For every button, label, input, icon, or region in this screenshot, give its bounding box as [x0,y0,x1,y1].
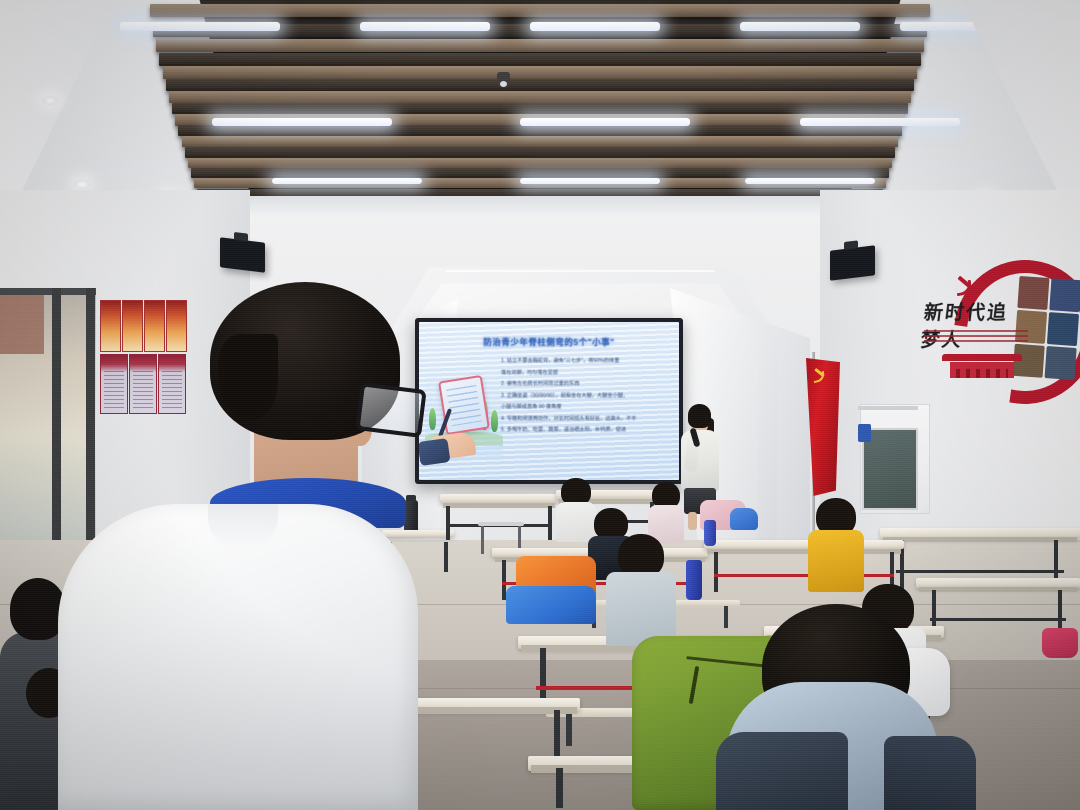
exterior-brick-wall [0,288,44,354]
slide-bullet: 2. 避免左右肩长时间背过重的东西 [501,379,673,391]
ceiling-slat [159,53,920,65]
child-blue-hooded-jacket [716,604,1016,810]
ceiling-slat [169,91,911,103]
child-pink-top [648,482,684,542]
collage-photo [1047,312,1079,346]
hammer-sickle-icon [812,368,828,384]
light-tube [272,178,422,184]
blue-bottle [704,520,716,546]
blue-bottle [686,560,702,600]
presentation-screen[interactable]: 防治青少年脊柱侧弯的5个"小事" 1. 站立不要含胸驼背，避免"三七步"，将50… [415,318,683,484]
ceiling-slat [166,79,914,91]
slide-bullets: 1. 站立不要含胸驼背，避免"三七步"，将50%的体重 落在双脚，均匀落在足部 … [501,356,673,437]
party-emblem-icon [954,276,976,298]
party-wall-art: 新时代追梦人 [912,258,1080,390]
child-gray-shirt [606,534,676,644]
blue-item [730,508,758,530]
tree-icon [491,410,498,432]
slide-bullet: 4. 写路和阅读两动作，对长时间低头有好处，远离头，不半 [501,414,673,426]
zipper-pull [689,666,700,704]
vest-left [716,732,848,810]
ceiling-camera-icon [497,72,510,87]
wall-art-title: 新时代追梦人 [922,298,1026,328]
slide-bullet: 落在双脚，均匀落在足部 [501,368,673,380]
slide-bullet: 3. 正确坐姿（90/90/90），屁股坐在大腿，大腿坐小腿， [501,391,673,403]
light-tube [520,178,660,184]
child-yellow-shirt [808,498,864,590]
foreground-man-back-view [58,282,418,810]
presenter-hair [688,404,711,428]
ceiling-slat [182,136,899,147]
wall-art-subtitle-lines [924,330,1028,345]
wall-speaker-left-icon [220,237,265,273]
ceiling-slat [172,103,908,115]
downlight-icon [74,180,90,189]
vest-right [884,736,976,810]
classroom-scene: 防治青少年脊柱侧弯的5个"小事" 1. 站立不要含胸驼背，避免"三七步"，将50… [0,0,1080,810]
light-tube [520,118,690,126]
light-tube [530,22,660,31]
slide-illustration [425,364,503,460]
light-tube [120,22,280,31]
ceiling-slat [191,168,889,178]
ceiling-slat [185,147,896,158]
board-cloth [858,424,871,442]
pink-bag [1042,628,1078,658]
light-tube [800,118,960,126]
light-tube [360,22,490,31]
collage-photo [1045,346,1077,380]
board-rail [858,406,918,410]
ceiling-slat [188,158,892,169]
ceiling-slat [178,125,901,136]
ceiling-slat [163,66,918,78]
ceiling-slat [150,4,930,17]
white-polo-shirt [58,504,418,810]
tiananmen-gate-icon [938,354,1026,380]
ceiling-slat [156,39,923,52]
light-tube [740,22,860,31]
wall-speaker-right-icon [830,245,875,281]
slide: 防治青少年脊柱侧弯的5个"小事" 1. 站立不要含胸驼背，避免"三七步"，将50… [419,322,679,480]
blue-cloth [506,586,596,624]
downlight-icon [42,96,58,105]
tree-icon [429,408,436,430]
slide-bullet: 1. 站立不要含胸驼背，避免"三七步"，将50%的体重 [501,356,673,368]
light-tube [212,118,392,126]
collage-photo [1049,278,1080,312]
presenter-leg [688,512,697,530]
light-tube [745,178,875,184]
slide-title: 防治青少年脊柱侧弯的5个"小事" [419,336,679,348]
glasses-icon [355,382,426,438]
slide-bullet: 小腿与脚成直角 90 度角度 [501,402,673,414]
sleeve-shape [419,438,451,466]
slide-bullet: 5. 多喝牛奶、吃蛋、蔬菜，适当晒太阳，补钙质，促进 [501,425,673,437]
